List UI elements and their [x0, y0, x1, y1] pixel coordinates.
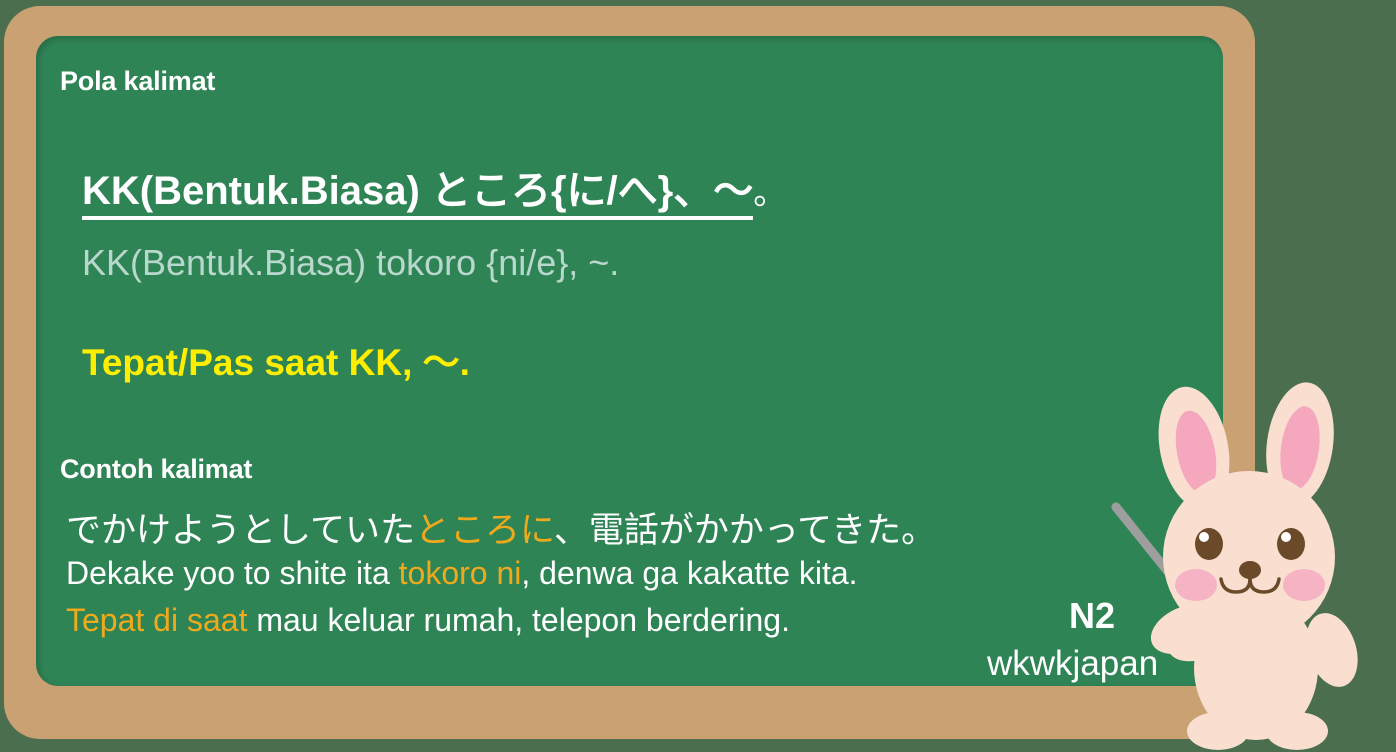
rabbit-right-eye-icon	[1277, 528, 1305, 560]
chalkboard-surface: Pola kalimat KK(Bentuk.Biasa) ところ{に/へ}、～…	[36, 36, 1223, 686]
example-sentence-indonesian: Tepat di saat mau keluar rumah, telepon …	[66, 602, 790, 639]
rabbit-head-icon	[1163, 471, 1335, 643]
example-romaji-highlight: tokoro ni	[399, 555, 522, 591]
grammar-pattern-tail: 。	[753, 174, 787, 212]
grammar-pattern-meaning: Tepat/Pas saat KK, ～.	[82, 332, 470, 386]
chalkboard-content: Pola kalimat KK(Bentuk.Biasa) ところ{に/へ}、～…	[36, 36, 1223, 686]
example-jp-highlight: ところに	[415, 511, 554, 550]
example-romaji-before: Dekake yoo to shite ita	[66, 555, 399, 591]
example-section-label: Contoh kalimat	[60, 454, 252, 485]
poster-canvas: Pola kalimat KK(Bentuk.Biasa) ところ{に/へ}、～…	[0, 0, 1396, 752]
example-jp-after: 、電話がかかってきた。	[554, 511, 936, 550]
example-jp-before: でかけようとしていた	[66, 511, 415, 550]
rabbit-nose-icon	[1239, 561, 1261, 579]
example-romaji-after: , denwa ga kakatte kita.	[521, 555, 857, 591]
rabbit-mascot	[1108, 382, 1396, 752]
example-sentence-japanese: でかけようとしていたところに、電話がかかってきた。	[66, 502, 936, 553]
chalkboard-frame: Pola kalimat KK(Bentuk.Biasa) ところ{に/へ}、～…	[4, 6, 1255, 739]
rabbit-left-cheek-icon	[1175, 569, 1217, 601]
rabbit-right-cheek-icon	[1283, 569, 1325, 601]
example-id-after: mau keluar rumah, telepon berdering.	[247, 602, 790, 638]
grammar-pattern-romaji: KK(Bentuk.Biasa) tokoro {ni/e}, ~.	[82, 242, 619, 284]
pattern-section-label: Pola kalimat	[60, 66, 215, 97]
grammar-pattern: KK(Bentuk.Biasa) ところ{に/へ}、～。	[82, 158, 787, 216]
rabbit-left-eye-icon	[1195, 528, 1223, 560]
example-id-highlight: Tepat di saat	[66, 602, 247, 638]
example-sentence-romaji: Dekake yoo to shite ita tokoro ni, denwa…	[66, 555, 858, 592]
grammar-pattern-underlined: KK(Bentuk.Biasa) ところ{に/へ}、～	[82, 169, 753, 220]
